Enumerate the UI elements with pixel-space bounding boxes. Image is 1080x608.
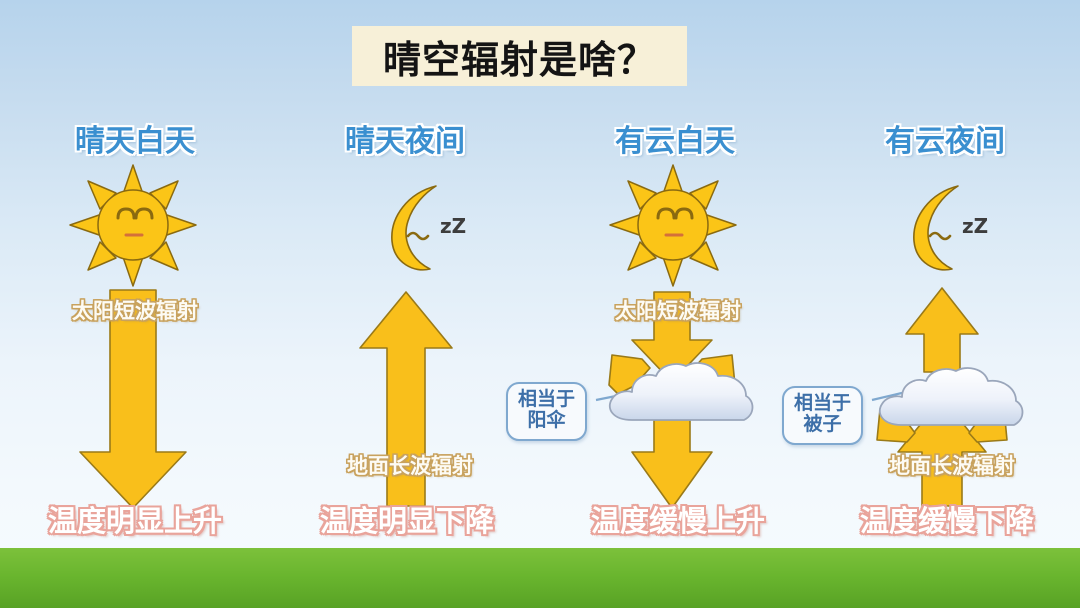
column-header-cloudy-day: 有云白天 [540, 116, 810, 160]
radiation-label-shortwave-col3: 太阳短波辐射 [578, 295, 778, 325]
moon-icon [378, 183, 498, 273]
infographic-canvas: 晴空辐射是啥？ [0, 0, 1080, 608]
radiation-label-shortwave-col1: 太阳短波辐射 [35, 295, 235, 325]
callout-quilt: 相当于 被子 [782, 386, 863, 445]
sun-icon [608, 163, 738, 288]
sleep-text: zZ [440, 214, 466, 238]
sun-icon [68, 163, 198, 288]
cloud-icon [602, 358, 762, 430]
result-label-cloudy-day: 温度缓慢上升 [543, 498, 813, 540]
radiation-label-longwave-col2: 地面长波辐射 [310, 450, 510, 480]
result-label-clear-night: 温度明显下降 [272, 498, 542, 540]
sleep-text: zZ [962, 214, 988, 238]
callout-line-1: 相当于 [794, 393, 851, 414]
callout-line-1: 相当于 [518, 389, 575, 410]
column-header-clear-night: 晴天夜间 [270, 116, 540, 160]
column-header-clear-day: 晴天白天 [0, 116, 270, 160]
result-label-cloudy-night: 温度缓慢下降 [812, 498, 1080, 540]
column-header-cloudy-night: 有云夜间 [810, 116, 1080, 160]
radiation-label-longwave-col4: 地面长波辐射 [852, 450, 1052, 480]
callout-line-2: 被子 [794, 414, 851, 435]
cloud-icon [872, 363, 1032, 435]
callout-line-2: 阳伞 [518, 410, 575, 431]
ground-bar: 地面 @深圳天气 [0, 548, 1080, 608]
result-label-clear-day: 温度明显上升 [0, 498, 270, 540]
callout-parasol: 相当于 阳伞 [506, 382, 587, 441]
moon-icon [900, 183, 1020, 273]
